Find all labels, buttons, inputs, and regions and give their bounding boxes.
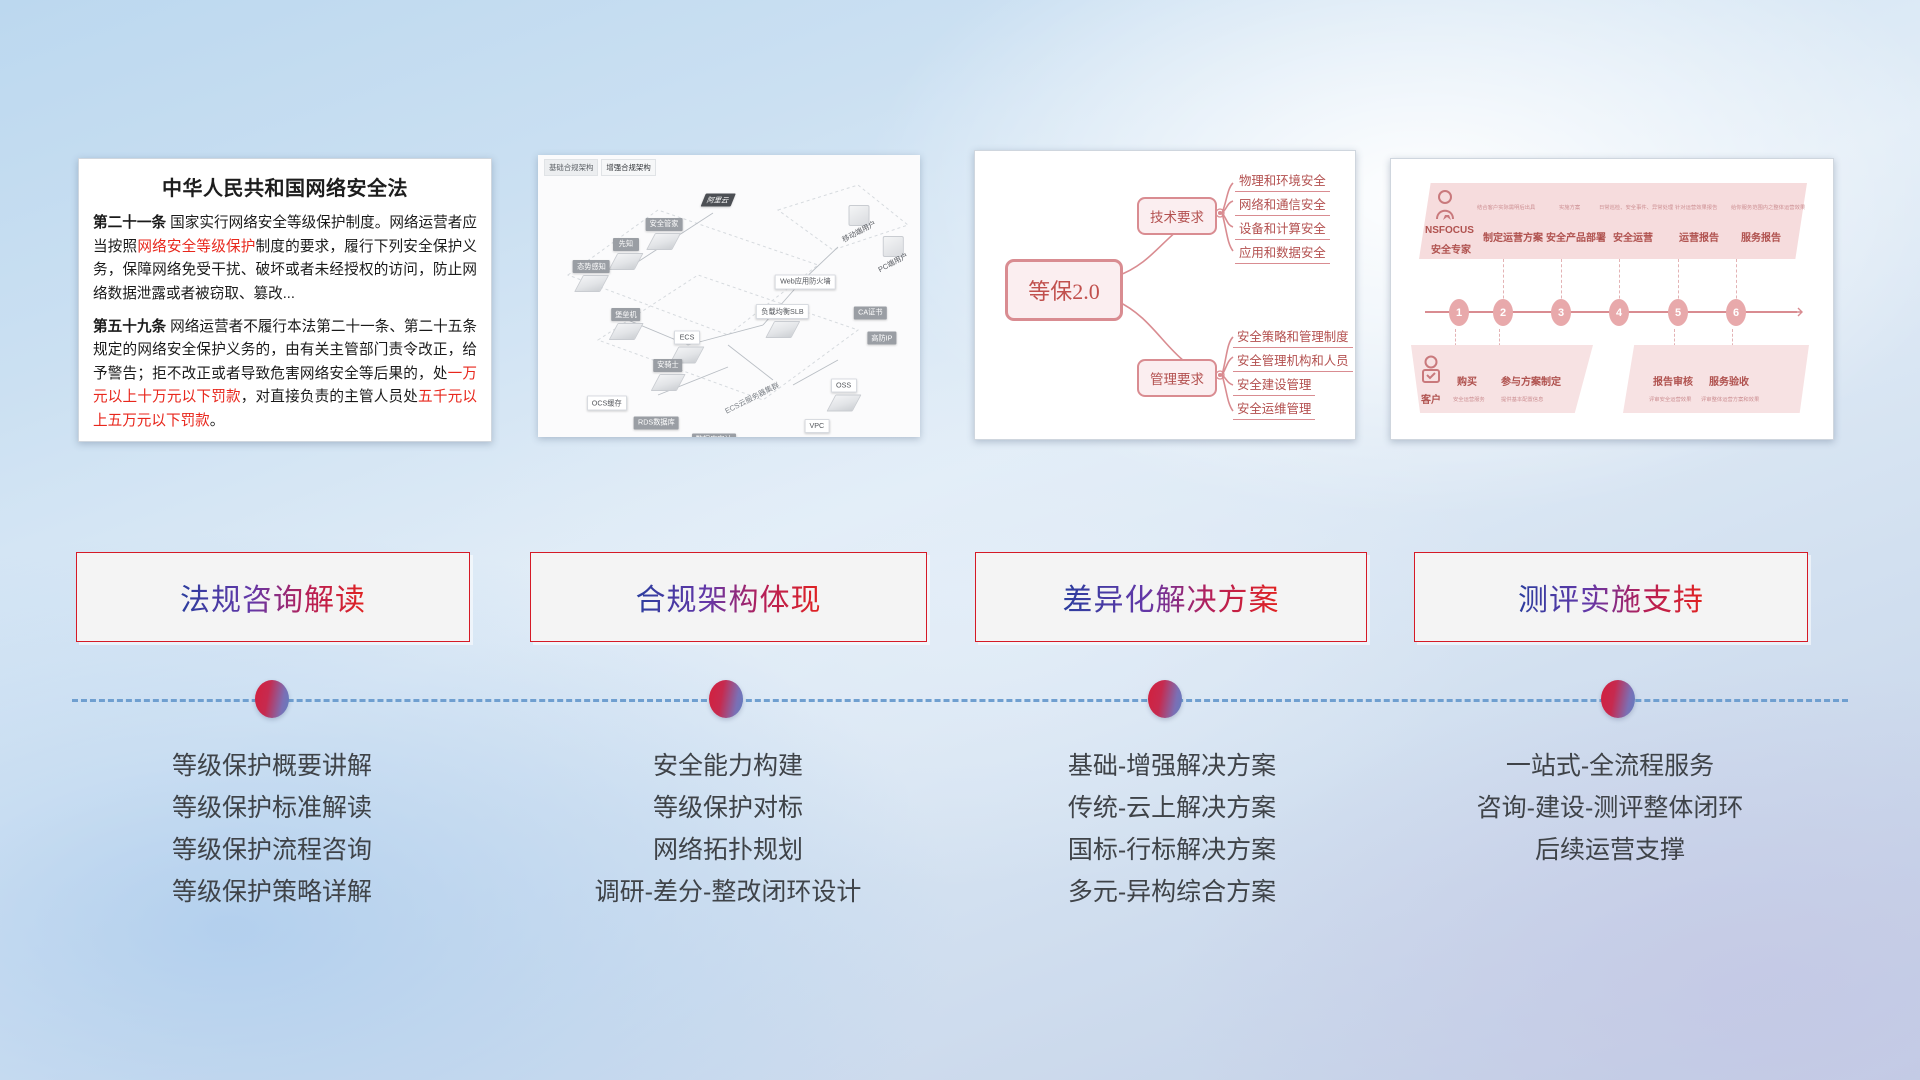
list-item: 安全能力构建 bbox=[528, 745, 928, 787]
arch-cube-icon bbox=[650, 374, 685, 391]
headline-box-2[interactable]: 合规架构体现 bbox=[530, 552, 927, 642]
law-title: 中华人民共和国网络安全法 bbox=[79, 172, 491, 201]
arch-node-vpc: VPC bbox=[804, 419, 829, 433]
law-paragraph-21: 第二十一条 国家实行网络安全等级保护制度。网络运营者应当按照网络安全等级保护制度… bbox=[93, 212, 477, 307]
headline-box-1[interactable]: 法规咨询解读 bbox=[76, 552, 470, 642]
timeline-dot-1 bbox=[255, 680, 289, 718]
architecture-diagram: 基础合规架构 增强合规架构 bbox=[538, 155, 920, 437]
list-item: 国标-行标解决方案 bbox=[972, 829, 1372, 871]
arch-node-situation-awareness: 态势感知 bbox=[573, 260, 610, 292]
column-list-2: 安全能力构建 等级保护对标 网络拓扑规划 调研-差分-整改闭环设计 bbox=[528, 745, 928, 913]
mindmap-leaf-physical: 物理和环境安全 bbox=[1235, 171, 1330, 192]
arch-cube-icon bbox=[765, 321, 800, 338]
arch-chip-xianzhi: 先知 bbox=[613, 238, 639, 251]
mindmap-leaf-construction: 安全建设管理 bbox=[1233, 375, 1315, 396]
arch-chip-slb: 负载均衡SLB bbox=[756, 304, 808, 319]
list-item: 等级保护策略详解 bbox=[72, 871, 472, 913]
nsfocus-step-number: 2 bbox=[1493, 299, 1513, 326]
list-item: 网络拓扑规划 bbox=[528, 829, 928, 871]
arrow-right-icon bbox=[1791, 305, 1805, 319]
nsfocus-top-sub-3: 日常巡检、安全事件、异常处理 bbox=[1599, 203, 1673, 211]
arch-node-slb: 负载均衡SLB bbox=[756, 304, 808, 338]
arch-node-db-audit: 数据库审计 bbox=[692, 433, 736, 437]
nsfocus-bottom-sub-1: 安全运营服务 bbox=[1453, 395, 1485, 403]
arch-cube-icon bbox=[608, 323, 643, 340]
expert-person-icon bbox=[1431, 189, 1459, 223]
list-item: 等级保护概要讲解 bbox=[72, 745, 472, 787]
list-item: 等级保护标准解读 bbox=[72, 787, 472, 829]
law59-seg-2: ，对直接负责的主管人员处 bbox=[241, 389, 418, 405]
arch-node-xianzhi: 先知 bbox=[613, 238, 639, 270]
nsfocus-bottom-title-2: 参与方案制定 bbox=[1501, 373, 1561, 388]
arch-chip-waf: Web应用防火墙 bbox=[775, 274, 836, 289]
nsfocus-step-number: 5 bbox=[1668, 299, 1688, 326]
arch-chip-situation-awareness: 态势感知 bbox=[573, 260, 610, 273]
nsfocus-step-number: 1 bbox=[1449, 299, 1469, 326]
nsfocus-bottom-sub-3: 评审安全运营效果 bbox=[1649, 395, 1691, 403]
law-seg-1-red: 网络安全等级保护 bbox=[137, 239, 255, 255]
headline-box-4[interactable]: 测评实施支持 bbox=[1414, 552, 1808, 642]
arch-node-anti-ddos-ip: 高防IP bbox=[867, 332, 896, 345]
nsfocus-bottom-title-4: 服务验收 bbox=[1709, 373, 1749, 388]
headline-box-3[interactable]: 差异化解决方案 bbox=[975, 552, 1367, 642]
timeline-dot-4 bbox=[1601, 680, 1635, 718]
list-item: 等级保护对标 bbox=[528, 787, 928, 829]
law-article-label-21: 第二十一条 bbox=[93, 215, 166, 231]
arch-chip-oss: OSS bbox=[831, 378, 857, 392]
poster-stage: 中华人民共和国网络安全法 第二十一条 国家实行网络安全等级保护制度。网络运营者应… bbox=[0, 0, 1920, 1080]
arch-node-aliyun: 阿里云 bbox=[703, 194, 733, 207]
arch-cube-icon bbox=[574, 275, 609, 292]
nsfocus-top-sub-4: 针对运营效果报告 bbox=[1675, 203, 1717, 211]
timeline-dot-2 bbox=[709, 680, 743, 718]
mindmap-leaf-network: 网络和通信安全 bbox=[1235, 195, 1330, 216]
arch-chip-ocs: OCS缓存 bbox=[587, 396, 627, 411]
arch-chip-anqishi: 安骑士 bbox=[653, 359, 683, 372]
list-item: 等级保护流程咨询 bbox=[72, 829, 472, 871]
nsfocus-step-number: 3 bbox=[1551, 299, 1571, 326]
list-item: 后续运营支撑 bbox=[1410, 829, 1810, 871]
arch-node-mobile-user: 移动端用户 bbox=[840, 203, 877, 237]
nsfocus-process-diagram: NSFOCUS 安全专家 结合客户实际需明后出具 制定运营方案 实施方案 安全产… bbox=[1391, 159, 1833, 439]
nsfocus-top-sub-5: 给你服务范围内之整体运营效果 bbox=[1731, 203, 1805, 211]
nsfocus-top-title-4: 运营报告 bbox=[1679, 229, 1719, 244]
timeline-dashed-line bbox=[72, 699, 1848, 702]
nsfocus-customer-label: 客户 bbox=[1421, 391, 1441, 406]
mindmap-leaf-org: 安全管理机构和人员 bbox=[1233, 351, 1353, 372]
nsfocus-brand: NSFOCUS bbox=[1425, 225, 1474, 236]
arch-cube-icon bbox=[608, 253, 643, 270]
timeline-dot-3 bbox=[1148, 680, 1182, 718]
nsfocus-top-title-5: 服务报告 bbox=[1741, 229, 1781, 244]
arch-chip-db-audit: 数据库审计 bbox=[692, 433, 736, 437]
arch-chip-ca: CA证书 bbox=[854, 306, 886, 319]
headline-label-1: 法规咨询解读 bbox=[180, 575, 366, 619]
arch-chip-vpc: VPC bbox=[804, 419, 829, 433]
arch-node-ca: CA证书 bbox=[854, 306, 886, 319]
nsfocus-bottom-sub-2: 提供基本配置信息 bbox=[1501, 395, 1543, 403]
nsfocus-top-sub-2: 实施方案 bbox=[1559, 203, 1580, 211]
arch-node-waf: Web应用防火墙 bbox=[775, 274, 836, 289]
mindmap-leaf-application: 应用和数据安全 bbox=[1235, 243, 1330, 264]
nsfocus-bottom-title-1: 购买 bbox=[1457, 373, 1477, 388]
list-item: 调研-差分-整改闭环设计 bbox=[528, 871, 928, 913]
arch-node-ecs-cluster: ECS云服务器集群 bbox=[722, 392, 782, 403]
arch-chip-rds: RDS数据库 bbox=[634, 416, 679, 429]
arch-chip-bastion: 堡垒机 bbox=[611, 308, 641, 321]
law-paragraph-59: 第五十九条 网络运营者不履行本法第二十一条、第二十五条规定的网络安全保护义务的，… bbox=[93, 316, 477, 434]
headline-label-3: 差异化解决方案 bbox=[1063, 575, 1280, 619]
nsfocus-step-number: 4 bbox=[1609, 299, 1629, 326]
card-nsfocus-screenshot: NSFOCUS 安全专家 结合客户实际需明后出具 制定运营方案 实施方案 安全产… bbox=[1390, 158, 1834, 440]
nsfocus-bottom-sub-4: 评审整体运营方案和效果 bbox=[1701, 395, 1759, 403]
nsfocus-step-number: 6 bbox=[1726, 299, 1746, 326]
arch-chip-ecs: ECS bbox=[674, 330, 700, 344]
column-list-4: 一站式-全流程服务 咨询-建设-测评整体闭环 后续运营支撑 bbox=[1410, 745, 1810, 871]
headline-label-2: 合规架构体现 bbox=[636, 575, 822, 619]
column-list-1: 等级保护概要讲解 等级保护标准解读 等级保护流程咨询 等级保护策略详解 bbox=[72, 745, 472, 913]
mindmap-branch-technical: 技术要求 bbox=[1137, 197, 1217, 235]
nsfocus-brand-sub: 安全专家 bbox=[1431, 241, 1471, 256]
arch-chip-anti-ddos-ip: 高防IP bbox=[867, 332, 896, 345]
nsfocus-top-title-2: 安全产品部署 bbox=[1546, 229, 1606, 244]
list-item: 传统-云上解决方案 bbox=[972, 787, 1372, 829]
card-law-screenshot: 中华人民共和国网络安全法 第二十一条 国家实行网络安全等级保护制度。网络运营者应… bbox=[78, 158, 492, 442]
arch-node-oss: OSS bbox=[831, 378, 857, 411]
arch-node-security-butler: 安全管家 bbox=[646, 218, 683, 250]
mindmap-core-node: 等保2.0 bbox=[1005, 259, 1123, 321]
law59-seg-4: 。 bbox=[210, 413, 225, 429]
law-article-label-59: 第五十九条 bbox=[93, 319, 166, 335]
nsfocus-top-band bbox=[1419, 183, 1807, 259]
mindmap-leaf-device: 设备和计算安全 bbox=[1235, 219, 1330, 240]
mindmap-diagram: 等保2.0 技术要求 管理要求 物理和环境安全 网络和通信安全 设备和计算安全 … bbox=[975, 151, 1355, 439]
nsfocus-top-title-3: 安全运营 bbox=[1613, 229, 1653, 244]
list-item: 一站式-全流程服务 bbox=[1410, 745, 1810, 787]
list-item: 多元-异构综合方案 bbox=[972, 871, 1372, 913]
arch-chip-aliyun: 阿里云 bbox=[700, 194, 735, 207]
mindmap-leaf-operation: 安全运维管理 bbox=[1233, 399, 1315, 420]
card-architecture-screenshot: 基础合规架构 增强合规架构 bbox=[538, 155, 920, 437]
arch-cube-icon bbox=[826, 394, 861, 411]
nsfocus-bottom-title-3: 报告审核 bbox=[1653, 373, 1693, 388]
card-mindmap-screenshot: 等保2.0 技术要求 管理要求 物理和环境安全 网络和通信安全 设备和计算安全 … bbox=[974, 150, 1356, 440]
arch-chip-security-butler: 安全管家 bbox=[646, 218, 683, 231]
column-list-3: 基础-增强解决方案 传统-云上解决方案 国标-行标解决方案 多元-异构综合方案 bbox=[972, 745, 1372, 913]
nsfocus-top-title-1: 制定运营方案 bbox=[1483, 229, 1543, 244]
arch-node-ocs: OCS缓存 bbox=[587, 396, 627, 411]
arch-node-bastion: 堡垒机 bbox=[611, 308, 641, 340]
arch-node-anqishi: 安骑士 bbox=[653, 359, 683, 391]
list-item: 咨询-建设-测评整体闭环 bbox=[1410, 787, 1810, 829]
headline-label-4: 测评实施支持 bbox=[1518, 575, 1704, 619]
mindmap-leaf-policy: 安全策略和管理制度 bbox=[1233, 327, 1353, 348]
customer-person-icon bbox=[1419, 355, 1443, 385]
mindmap-branch-management: 管理要求 bbox=[1137, 359, 1217, 397]
arch-cube-icon bbox=[647, 233, 682, 250]
arch-node-rds: RDS数据库 bbox=[634, 416, 679, 429]
arch-node-pc-user: PC端用户 bbox=[877, 234, 909, 268]
nsfocus-top-sub-1: 结合客户实际需明后出具 bbox=[1477, 203, 1535, 211]
list-item: 基础-增强解决方案 bbox=[972, 745, 1372, 787]
